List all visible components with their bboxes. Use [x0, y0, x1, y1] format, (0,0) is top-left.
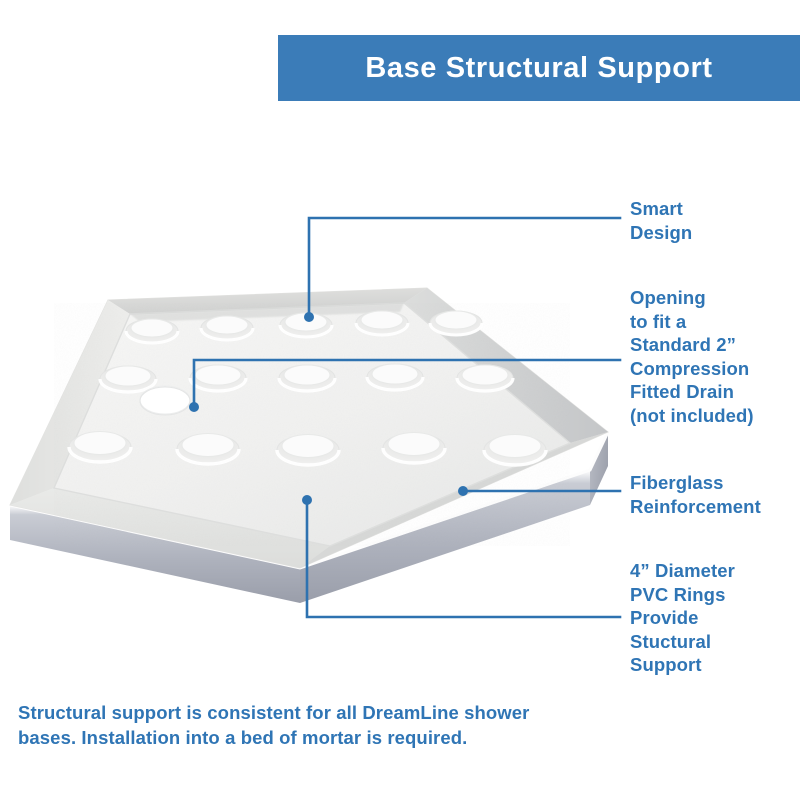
- pvc-ring: [457, 365, 513, 391]
- callout-label-fiberglass-reinforcement: Fiberglass Reinforcement: [630, 471, 761, 518]
- page-title: Base Structural Support: [365, 52, 712, 85]
- infographic-canvas: Base Structural Support Smart Design Ope…: [0, 0, 806, 806]
- callout-label-pvc-rings: 4” Diameter PVC Rings Provide Stuctural …: [630, 559, 735, 677]
- callout-label-drain-opening: Opening to fit a Standard 2” Compression…: [630, 286, 754, 427]
- pvc-ring: [277, 435, 339, 466]
- pvc-ring: [367, 364, 423, 390]
- pvc-ring: [190, 365, 246, 391]
- drain-opening: [140, 386, 190, 415]
- pvc-ring: [177, 434, 239, 465]
- pvc-ring: [126, 319, 178, 343]
- pvc-ring: [100, 366, 156, 392]
- pvc-ring: [69, 432, 131, 463]
- pvc-ring: [201, 316, 253, 340]
- pvc-ring: [383, 433, 445, 464]
- pvc-ring: [280, 313, 332, 337]
- header-banner: Base Structural Support: [278, 35, 800, 101]
- pvc-ring: [356, 311, 408, 335]
- pvc-ring: [484, 435, 546, 466]
- footer-caption: Structural support is consistent for all…: [18, 700, 558, 750]
- pvc-ring: [279, 365, 335, 391]
- base-side-right: [590, 432, 608, 505]
- callout-label-smart-design: Smart Design: [630, 197, 692, 244]
- pvc-ring: [430, 311, 482, 335]
